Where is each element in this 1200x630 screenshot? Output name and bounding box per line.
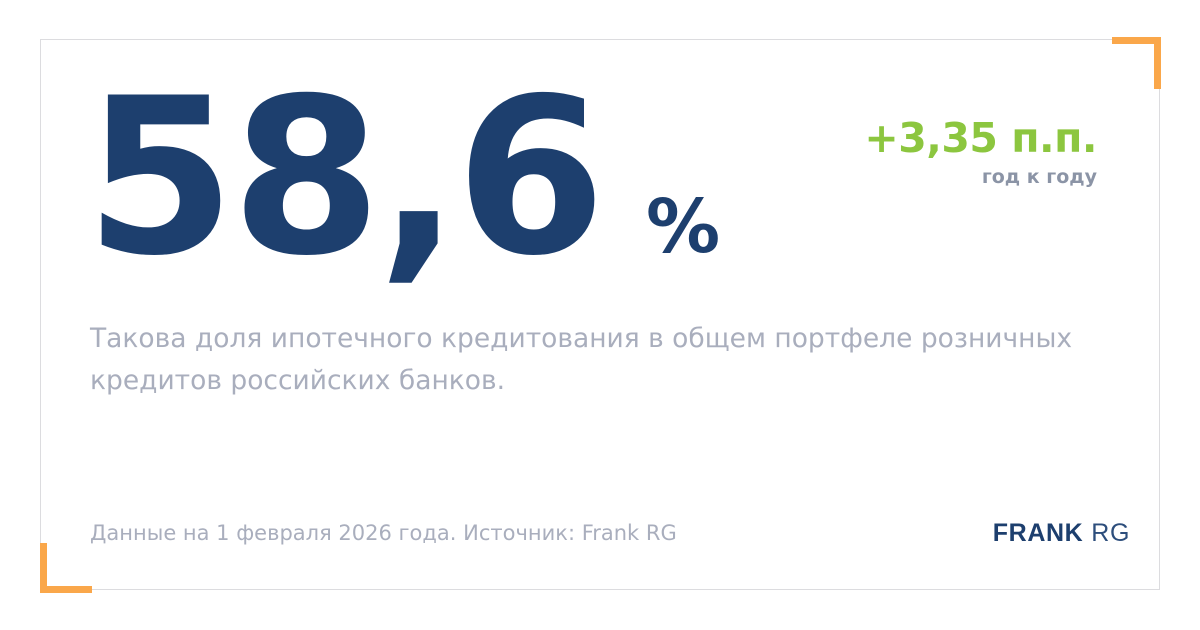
footer: Данные на 1 февраля 2026 года. Источник:… (90, 516, 1130, 550)
source-note: Данные на 1 февраля 2026 года. Источник:… (90, 516, 677, 550)
infographic-canvas: 58,6 % +3,35 п.п. год к году Такова доля… (0, 0, 1200, 630)
hero-section: 58,6 % +3,35 п.п. год к году (85, 78, 1130, 278)
headline-metric: 58,6 % (85, 78, 720, 327)
logo-secondary-text: RG (1091, 519, 1130, 548)
logo-primary-text: FRANK (993, 519, 1084, 548)
frank-rg-logo: FRANK RG (993, 519, 1130, 548)
corner-bracket-bottom-left-icon (40, 543, 92, 593)
bracket-horizontal-bar (40, 586, 92, 593)
headline-value: 58,6 (85, 78, 602, 278)
bracket-vertical-bar (1154, 37, 1161, 89)
delta-block: +3,35 п.п. год к году (864, 116, 1097, 188)
corner-bracket-top-right-icon (1112, 37, 1161, 89)
delta-period-label: год к году (864, 166, 1097, 188)
description-text: Такова доля ипотечного кредитования в об… (90, 318, 1130, 402)
headline-unit: % (646, 127, 720, 327)
delta-value: +3,35 п.п. (864, 116, 1097, 160)
